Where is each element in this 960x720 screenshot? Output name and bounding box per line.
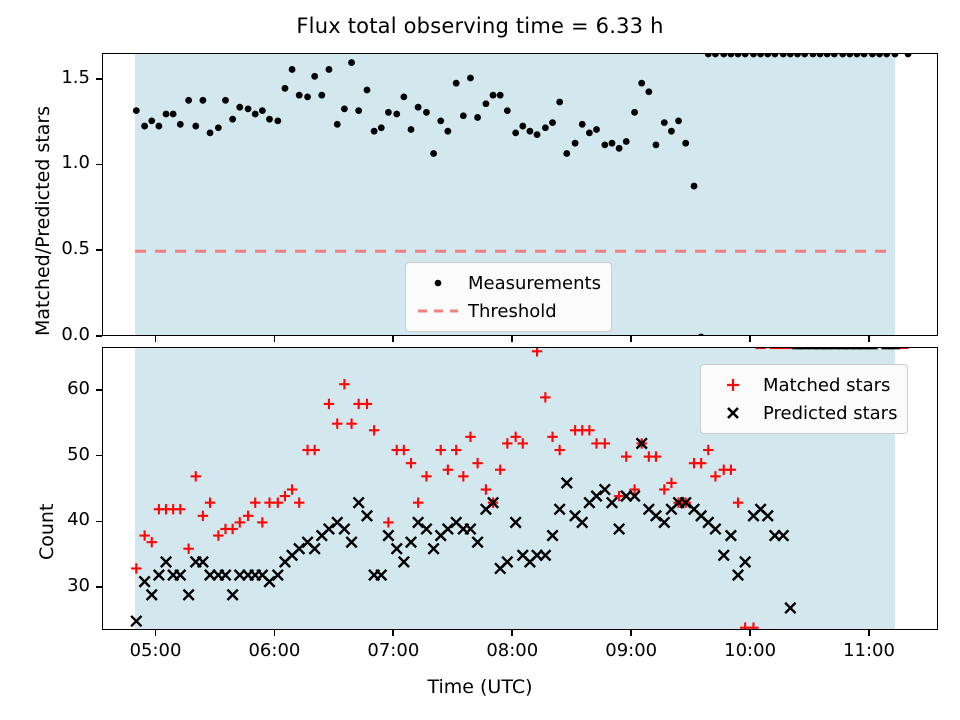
y-tick-label: 30	[16, 575, 90, 596]
x-tick-mark	[749, 336, 751, 342]
figure-root: Flux total observing time = 6.33 h Match…	[0, 0, 960, 720]
top-panel-legend[interactable]: Measurements Threshold	[405, 262, 612, 332]
legend-item-threshold[interactable]: Threshold	[414, 297, 601, 325]
legend-label-threshold: Threshold	[462, 301, 557, 322]
x-tick-mark	[630, 630, 632, 636]
legend-label-measurements: Measurements	[462, 273, 601, 294]
legend-item-measurements[interactable]: Measurements	[414, 269, 601, 297]
x-tick-mark	[155, 630, 157, 636]
x-tick-mark	[392, 630, 394, 636]
y-tick-mark	[96, 389, 102, 391]
x-axis-label: Time (UTC)	[0, 676, 960, 698]
y-tick-label: 50	[16, 444, 90, 465]
x-tick-mark	[868, 336, 870, 342]
y-tick-mark	[96, 521, 102, 523]
y-tick-mark	[96, 249, 102, 251]
x-tick-label: 09:00	[586, 640, 676, 661]
x-tick-mark	[155, 336, 157, 342]
y-tick-mark	[96, 335, 102, 337]
x-tick-mark	[274, 630, 276, 636]
top-panel-y-axis-label: Matched/Predicted stars	[32, 106, 54, 336]
y-tick-label: 40	[16, 509, 90, 530]
x-tick-label: 06:00	[229, 640, 319, 661]
y-tick-mark	[96, 455, 102, 457]
y-tick-mark	[96, 164, 102, 166]
x-tick-mark	[511, 336, 513, 342]
y-tick-label: 1.0	[16, 152, 90, 173]
legend-label-predicted-stars: Predicted stars	[757, 403, 897, 424]
x-tick-label: 08:00	[467, 640, 557, 661]
x-tick-mark	[749, 630, 751, 636]
x-tick-mark	[392, 336, 394, 342]
legend-label-matched-stars: Matched stars	[757, 375, 890, 396]
y-tick-label: 0.0	[16, 324, 90, 345]
cross-marker-icon	[709, 404, 757, 422]
x-tick-label: 10:00	[705, 640, 795, 661]
y-tick-label: 60	[16, 378, 90, 399]
bottom-panel-legend[interactable]: Matched stars Predicted stars	[700, 364, 908, 434]
y-tick-mark	[96, 78, 102, 80]
dashed-line-marker-icon	[414, 304, 462, 318]
plus-marker-icon	[709, 376, 757, 394]
dot-marker-icon	[414, 276, 462, 290]
x-tick-mark	[630, 336, 632, 342]
x-tick-mark	[511, 630, 513, 636]
x-tick-mark	[274, 336, 276, 342]
x-tick-label: 11:00	[824, 640, 914, 661]
x-tick-label: 07:00	[348, 640, 438, 661]
legend-item-matched-stars[interactable]: Matched stars	[709, 371, 897, 399]
y-tick-label: 0.5	[16, 238, 90, 259]
y-tick-mark	[96, 586, 102, 588]
legend-item-predicted-stars[interactable]: Predicted stars	[709, 399, 897, 427]
y-tick-label: 1.5	[16, 67, 90, 88]
x-tick-label: 05:00	[111, 640, 201, 661]
x-tick-mark	[868, 630, 870, 636]
figure-title: Flux total observing time = 6.33 h	[0, 14, 960, 38]
